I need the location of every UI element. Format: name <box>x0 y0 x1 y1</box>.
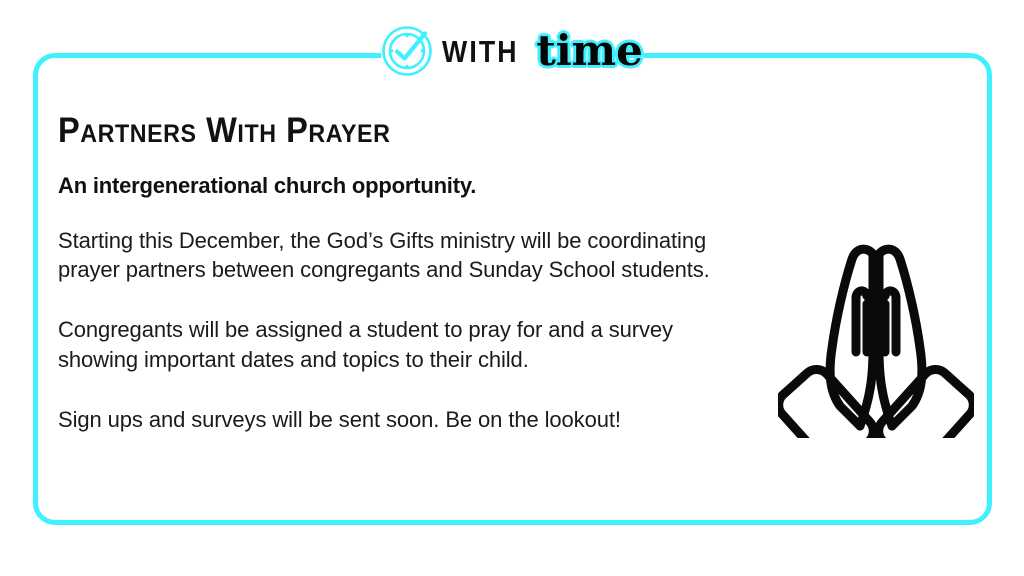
praying-hands-icon <box>778 222 974 438</box>
body-paragraph-2: Congregants will be assigned a student t… <box>58 315 748 374</box>
card-content: Partners with Prayer An intergenerationa… <box>58 112 748 434</box>
logo-word-with: WITH <box>442 36 519 67</box>
body-paragraph-3: Sign ups and surveys will be sent soon. … <box>58 405 748 434</box>
body-paragraph-1: Starting this December, the God’s Gifts … <box>58 226 748 285</box>
logo-word-time: time <box>536 30 643 72</box>
page-title: Partners with Prayer <box>58 112 700 151</box>
brand-logo-lockup: WITH time <box>0 22 1024 80</box>
clock-check-icon <box>381 25 433 77</box>
page-subtitle: An intergenerational church opportunity. <box>58 173 748 199</box>
